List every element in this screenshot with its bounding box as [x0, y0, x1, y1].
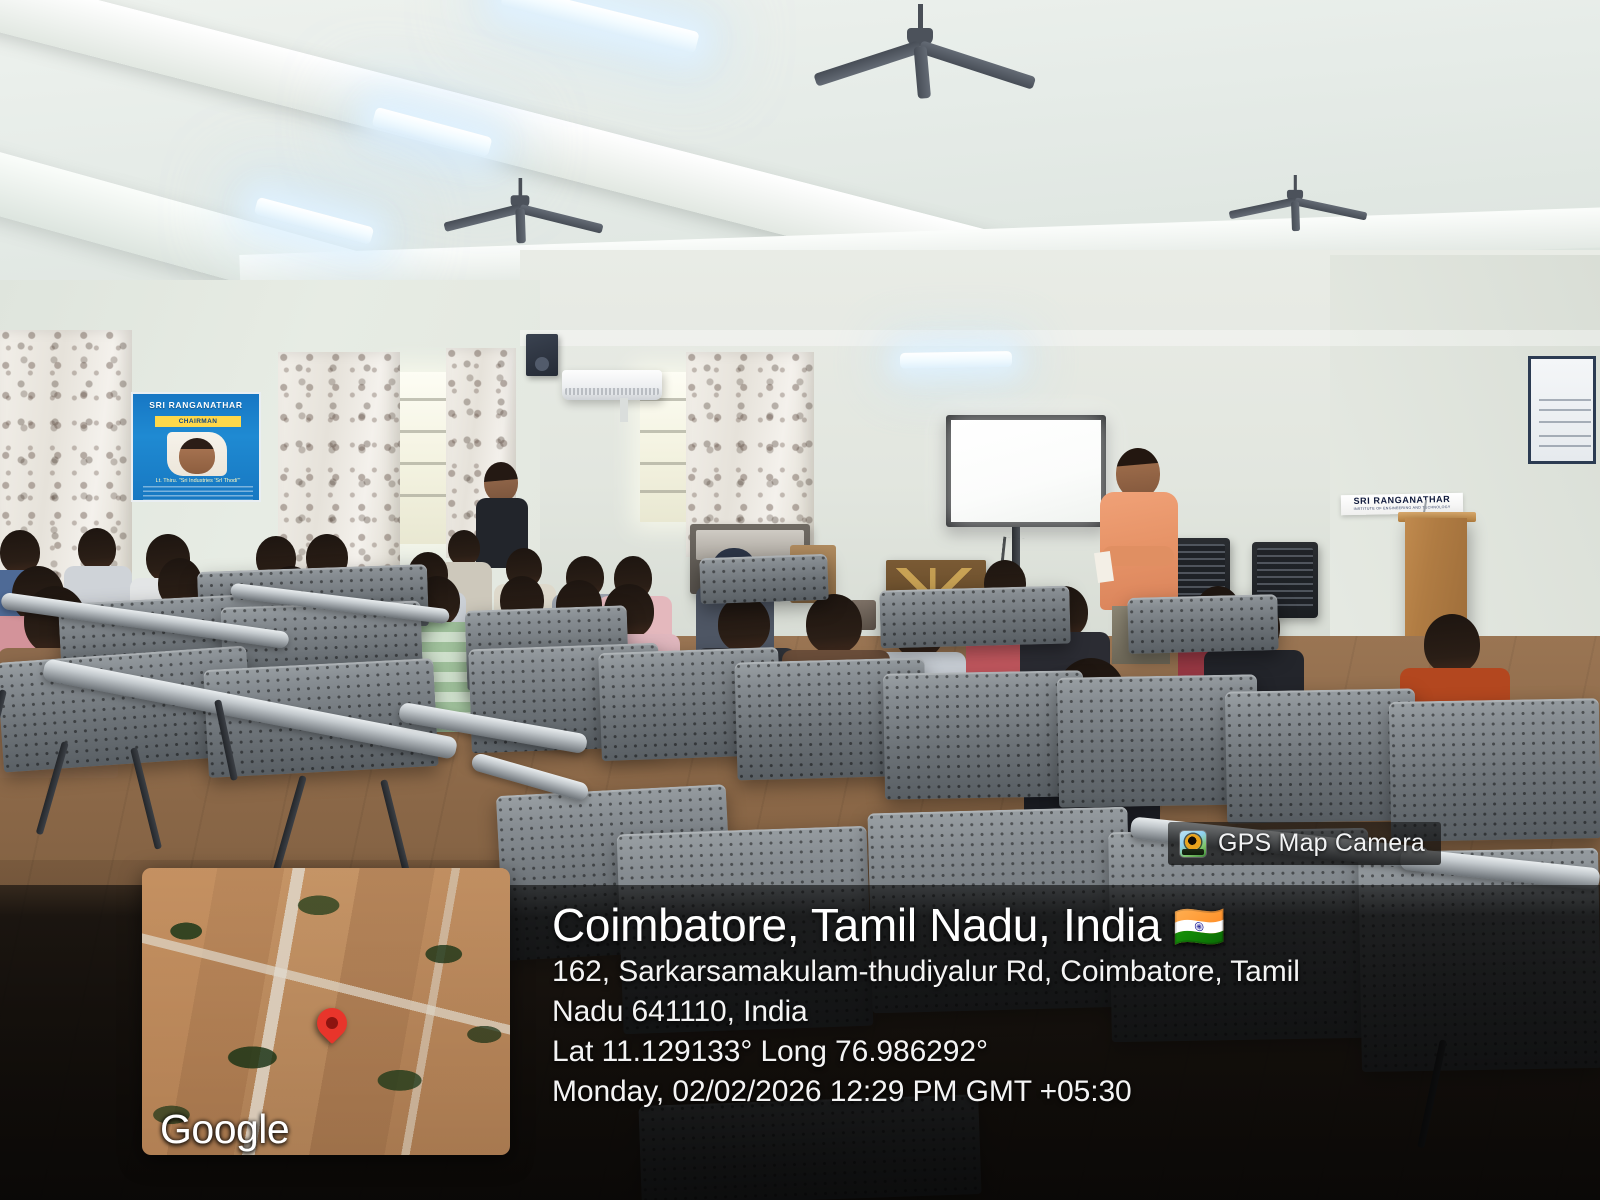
- ac-pipe: [620, 398, 628, 422]
- map-pin-icon: [311, 1002, 353, 1044]
- gps-map-camera-label: GPS Map Camera: [1218, 829, 1425, 858]
- location-title: Coimbatore, Tamil Nadu, India: [552, 899, 1161, 951]
- poster-role-label: CHAIRMAN: [155, 416, 241, 427]
- poster-header: SRI RANGANATHAR: [133, 398, 259, 412]
- wall-trim: [520, 330, 1600, 346]
- bench-seat: [1389, 698, 1600, 842]
- projection-screen: [946, 415, 1106, 527]
- address-line-2: Nadu 641110, India: [552, 992, 1572, 1032]
- bench-seat: [1127, 594, 1278, 654]
- bench-seat: [879, 586, 1070, 649]
- screen-surface: [951, 420, 1101, 522]
- window: [392, 372, 454, 544]
- poster-portrait: [167, 432, 227, 476]
- location-info: Coimbatore, Tamil Nadu, India🇮🇳 162, Sar…: [552, 900, 1572, 1112]
- gps-map-camera-badge: GPS Map Camera: [1168, 822, 1441, 865]
- timestamp: Monday, 02/02/2026 12:29 PM GMT +05:30: [552, 1072, 1572, 1112]
- map-thumbnail[interactable]: Google: [142, 868, 510, 1155]
- coordinates: Lat 11.129133° Long 76.986292°: [552, 1032, 1572, 1072]
- address-line-1: 162, Sarkarsamakulam-thudiyalur Rd, Coim…: [552, 952, 1572, 992]
- location-title-row: Coimbatore, Tamil Nadu, India🇮🇳: [552, 900, 1572, 952]
- bench-seat: [883, 670, 1085, 799]
- chairman-poster: SRI RANGANATHAR CHAIRMAN Lt. Thiru. "Sri…: [131, 392, 261, 502]
- wall-notice-frame: [1528, 356, 1596, 464]
- india-flag-icon: 🇮🇳: [1173, 903, 1225, 950]
- fluorescent-light: [900, 351, 1012, 369]
- air-conditioner: [562, 370, 662, 400]
- gps-map-camera-photo: SRI RANGANATHAR CHAIRMAN Lt. Thiru. "Sri…: [0, 0, 1600, 1200]
- poster-name-caption: Lt. Thiru. "Sri Industries 'Srl Thodi'": [139, 478, 257, 485]
- wall-speaker: [526, 334, 558, 376]
- bench-seat: [699, 554, 829, 604]
- google-watermark: Google: [160, 1106, 289, 1153]
- poster-body-text: [143, 486, 253, 502]
- gps-map-camera-app-icon: [1180, 831, 1206, 857]
